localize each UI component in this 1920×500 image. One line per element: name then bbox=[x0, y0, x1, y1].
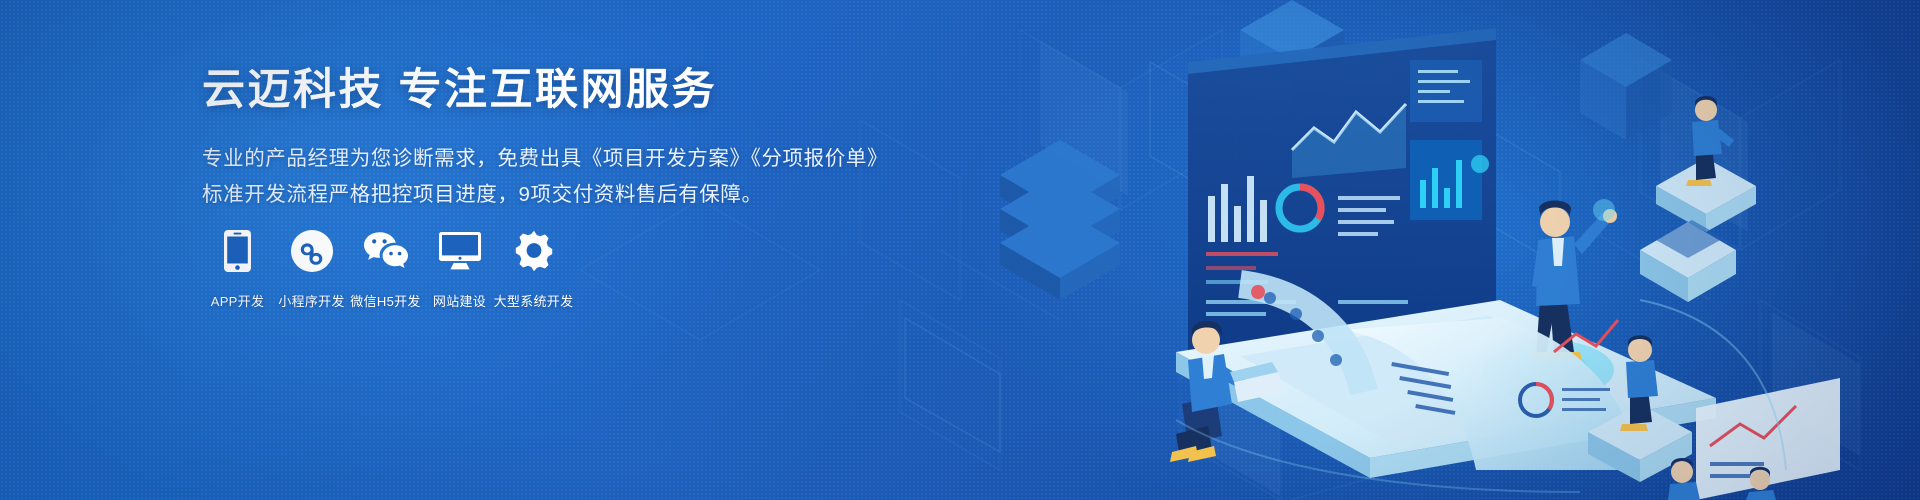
person-with-chart-panel bbox=[1588, 335, 1692, 482]
panel-cube bbox=[1640, 220, 1736, 302]
service-list: APP开发 小程序开发 微信 bbox=[202, 228, 569, 310]
service-label: 微信H5开发 bbox=[350, 291, 420, 310]
service-label: APP开发 bbox=[211, 291, 265, 310]
service-label: 网站建设 bbox=[433, 291, 486, 310]
server-stack-icon bbox=[1000, 140, 1120, 300]
service-item-large-system[interactable]: 大型系统开发 bbox=[498, 228, 569, 310]
person-on-cube-platform bbox=[1656, 96, 1756, 232]
subtitle-line-2: 标准开发流程严格把控项目进度，9项交付资料售后有保障。 bbox=[202, 177, 922, 212]
service-item-app[interactable]: APP开发 bbox=[202, 228, 273, 310]
standing-person-pointing bbox=[1530, 201, 1617, 361]
monitor-icon bbox=[439, 228, 481, 274]
hero-illustration bbox=[940, 0, 1920, 500]
glow-pad bbox=[1482, 340, 1614, 400]
service-item-miniprogram[interactable]: 小程序开发 bbox=[276, 228, 347, 310]
service-label: 小程序开发 bbox=[278, 291, 345, 310]
service-item-wechat-h5[interactable]: 微信H5开发 bbox=[350, 228, 421, 310]
banner-subtitle: 专业的产品经理为您诊断需求，免费出具《项目开发方案》《分项报价单》 标准开发流程… bbox=[202, 141, 922, 212]
service-label: 大型系统开发 bbox=[494, 291, 574, 310]
subtitle-line-1: 专业的产品经理为您诊断需求，免费出具《项目开发方案》《分项报价单》 bbox=[202, 141, 922, 176]
giant-tablet-platform bbox=[1176, 300, 1716, 478]
swoosh-line bbox=[1640, 300, 1786, 470]
small-figure bbox=[1746, 467, 1776, 500]
data-dashboard-screen bbox=[1188, 28, 1496, 356]
swoosh-line bbox=[1176, 420, 1580, 492]
gear-icon bbox=[513, 228, 555, 274]
mobile-phone-icon bbox=[224, 228, 251, 274]
small-figure bbox=[1668, 458, 1700, 500]
seated-person-with-laptop bbox=[1170, 321, 1284, 462]
data-pill-strip bbox=[1240, 284, 1364, 392]
page-title: 云迈科技 专注互联网服务 bbox=[202, 66, 922, 115]
floating-cube bbox=[1580, 33, 1672, 140]
mini-program-icon bbox=[291, 228, 333, 274]
chart-panel-card bbox=[1696, 378, 1840, 500]
banner-copy: 云迈科技 专注互联网服务 专业的产品经理为您诊断需求，免费出具《项目开发方案》《… bbox=[202, 66, 922, 212]
service-item-website[interactable]: 网站建设 bbox=[424, 228, 495, 310]
floating-cube bbox=[1240, 0, 1344, 118]
curved-chart-ribbon bbox=[1342, 318, 1640, 470]
hero-banner: 云迈科技 专注互联网服务 专业的产品经理为您诊断需求，免费出具《项目开发方案》《… bbox=[0, 0, 1920, 500]
touch-highlight bbox=[1593, 199, 1615, 221]
wechat-icon bbox=[363, 228, 409, 274]
